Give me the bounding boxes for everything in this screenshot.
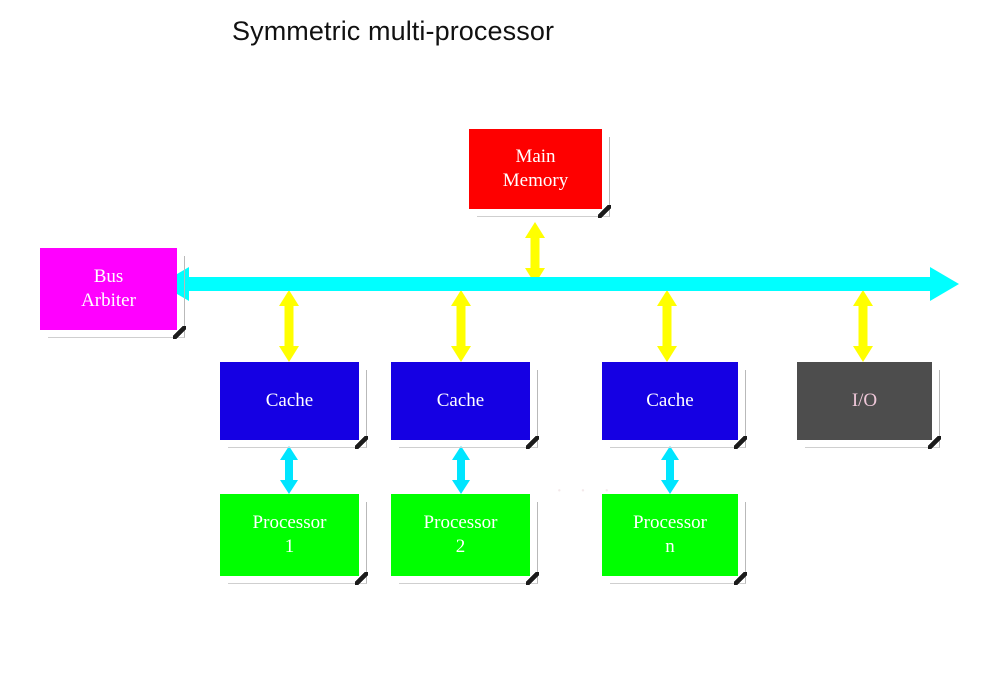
arrow-head-down-icon: [280, 480, 298, 494]
arrow-head-down-icon: [657, 346, 677, 362]
bus-arrow-head-right-icon: [930, 267, 959, 301]
connector-cache-to-processor-2: [448, 446, 474, 494]
node-cache-2[interactable]: Cache: [391, 362, 530, 440]
diagram-canvas: Symmetric multi-processor Main Memory Bu…: [0, 0, 994, 690]
node-processor-1[interactable]: Processor 1: [220, 494, 359, 576]
arrow-shaft: [457, 302, 466, 350]
arrow-shaft: [663, 302, 672, 350]
connector-cache-to-processor-1: [276, 446, 302, 494]
bus-arbiter-label-line1: Bus: [94, 266, 124, 287]
node-io[interactable]: I/O: [797, 362, 932, 440]
processor-n-label-line1: Processor: [633, 512, 707, 533]
cache-2-label: Cache: [437, 389, 484, 413]
main-memory-label: Main Memory: [503, 145, 568, 193]
arrow-head-down-icon: [451, 346, 471, 362]
connector-memory-to-bus: [521, 222, 549, 284]
arrow-head-down-icon: [853, 346, 873, 362]
arrow-head-down-icon: [661, 480, 679, 494]
processor-1-label: Processor 1: [253, 511, 327, 559]
page-title: Symmetric multi-processor: [232, 16, 554, 47]
arrow-shaft: [285, 302, 294, 350]
node-cache-3[interactable]: Cache: [602, 362, 738, 440]
processor-2-label-line1: Processor: [424, 512, 498, 533]
io-label: I/O: [852, 389, 877, 413]
node-main-memory[interactable]: Main Memory: [469, 129, 602, 209]
processor-n-label-line2: n: [665, 536, 675, 557]
connector-bus-to-cache-1: [275, 290, 303, 362]
cache-1-label: Cache: [266, 389, 313, 413]
connector-cache-to-processor-3: [657, 446, 683, 494]
arrow-head-down-icon: [279, 346, 299, 362]
bus-arbiter-label: Bus Arbiter: [81, 265, 136, 313]
node-cache-1[interactable]: Cache: [220, 362, 359, 440]
bus-arbiter-label-line2: Arbiter: [81, 290, 136, 311]
arrow-head-down-icon: [452, 480, 470, 494]
processor-2-label-line2: 2: [456, 536, 466, 557]
processor-1-label-line2: 1: [285, 536, 295, 557]
node-bus-arbiter[interactable]: Bus Arbiter: [40, 248, 177, 330]
arrow-shaft: [859, 302, 868, 350]
connector-bus-to-io: [849, 290, 877, 362]
arrow-shaft: [531, 234, 540, 272]
main-memory-label-line2: Memory: [503, 170, 568, 191]
node-processor-2[interactable]: Processor 2: [391, 494, 530, 576]
main-memory-label-line1: Main: [515, 146, 555, 167]
connector-bus-to-cache-2: [447, 290, 475, 362]
connector-bus-to-cache-3: [653, 290, 681, 362]
processor-1-label-line1: Processor: [253, 512, 327, 533]
processor-2-label: Processor 2: [424, 511, 498, 559]
cache-3-label: Cache: [646, 389, 693, 413]
node-processor-n[interactable]: Processor n: [602, 494, 738, 576]
system-bus-line[interactable]: [188, 277, 932, 291]
processor-n-label: Processor n: [633, 511, 707, 559]
